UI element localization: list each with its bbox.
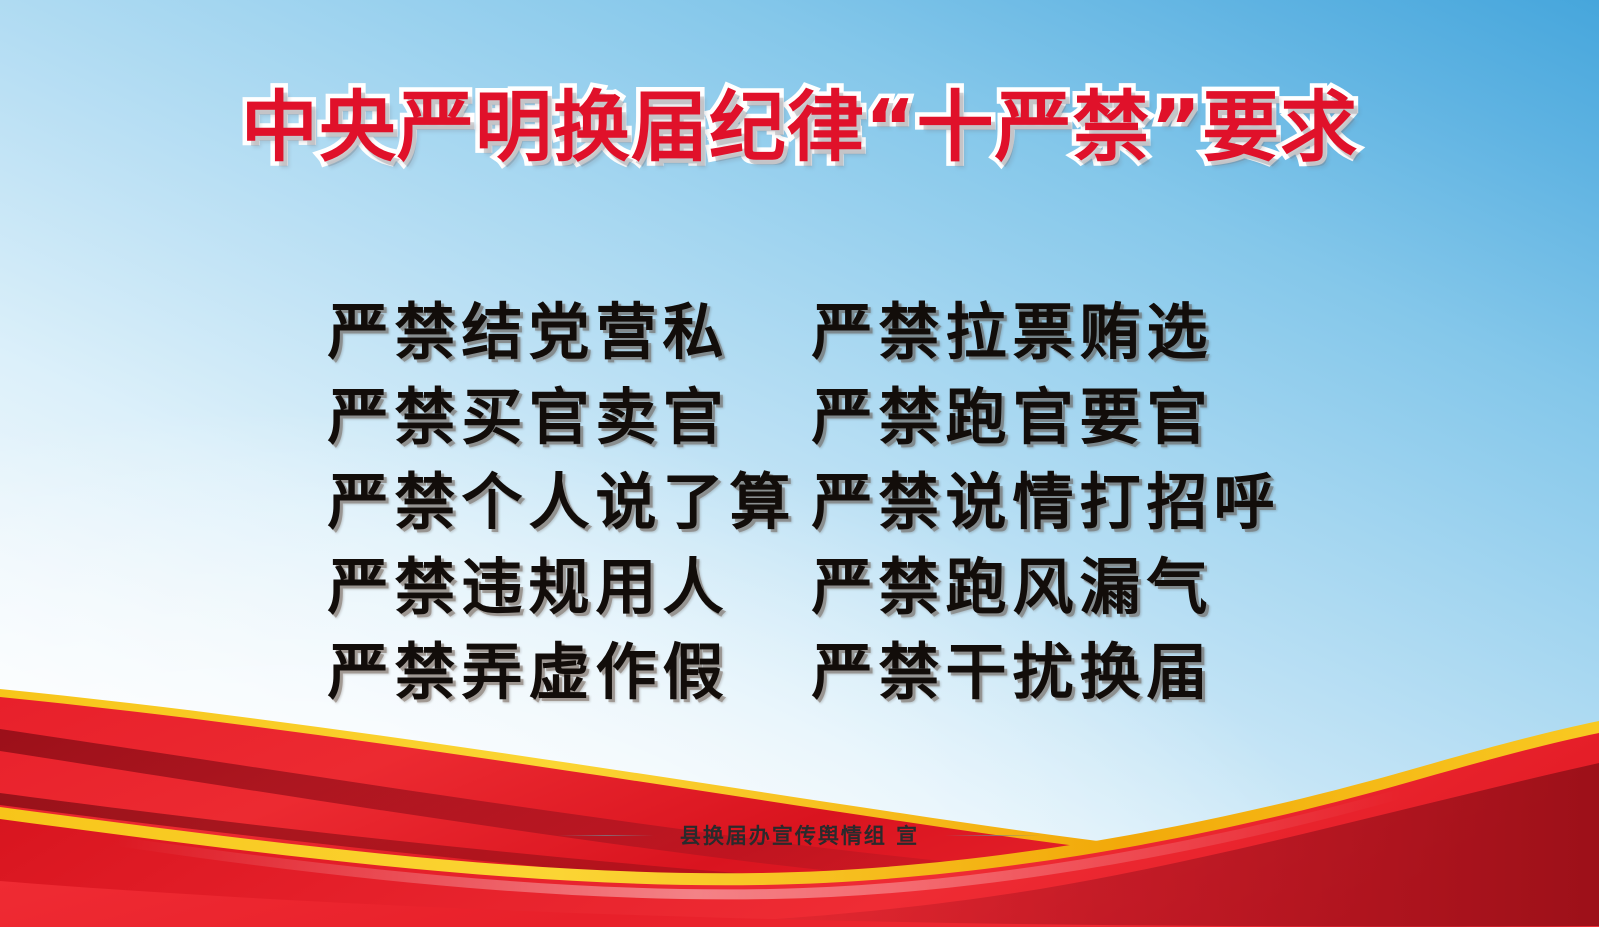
prohibitions-list: 严禁结党营私 严禁拉票贿选 严禁买官卖官 严禁跑官要官 严禁个人说了算 严禁说情… (0, 282, 1599, 707)
rule-item-4: 严禁跑官要官 (798, 367, 1282, 456)
footer-credit-text: 县换届办宣传舆情组 宣 (680, 820, 919, 850)
rule-row: 严禁弄虚作假 严禁干扰换届 (0, 622, 1599, 707)
rule-item-8: 严禁跑风漏气 (798, 537, 1282, 626)
rule-item-1: 严禁结党营私 (318, 282, 798, 371)
rule-item-5: 严禁个人说了算 (318, 452, 798, 541)
rule-item-3: 严禁买官卖官 (318, 367, 798, 456)
rule-row: 严禁个人说了算 严禁说情打招呼 (0, 452, 1599, 537)
rule-item-9: 严禁弄虚作假 (318, 622, 798, 711)
rule-item-2: 严禁拉票贿选 (798, 282, 1282, 371)
rule-row: 严禁结党营私 严禁拉票贿选 (0, 282, 1599, 367)
rule-item-7: 严禁违规用人 (318, 537, 798, 626)
rule-row: 严禁买官卖官 严禁跑官要官 (0, 367, 1599, 452)
title-block: 中央严明换届纪律“十严禁”要求 (0, 84, 1599, 175)
divider-line-right (945, 835, 1041, 836)
rule-row: 严禁违规用人 严禁跑风漏气 (0, 537, 1599, 622)
divider-line-left (558, 835, 654, 836)
rule-item-6: 严禁说情打招呼 (798, 452, 1282, 541)
footer-credit-block: 县换届办宣传舆情组 宣 (0, 820, 1599, 850)
page-title: 中央严明换届纪律“十严禁”要求 (241, 84, 1358, 175)
rule-item-10: 严禁干扰换届 (798, 622, 1282, 711)
poster-canvas: 中央严明换届纪律“十严禁”要求 严禁结党营私 严禁拉票贿选 严禁买官卖官 严禁跑… (0, 0, 1599, 927)
